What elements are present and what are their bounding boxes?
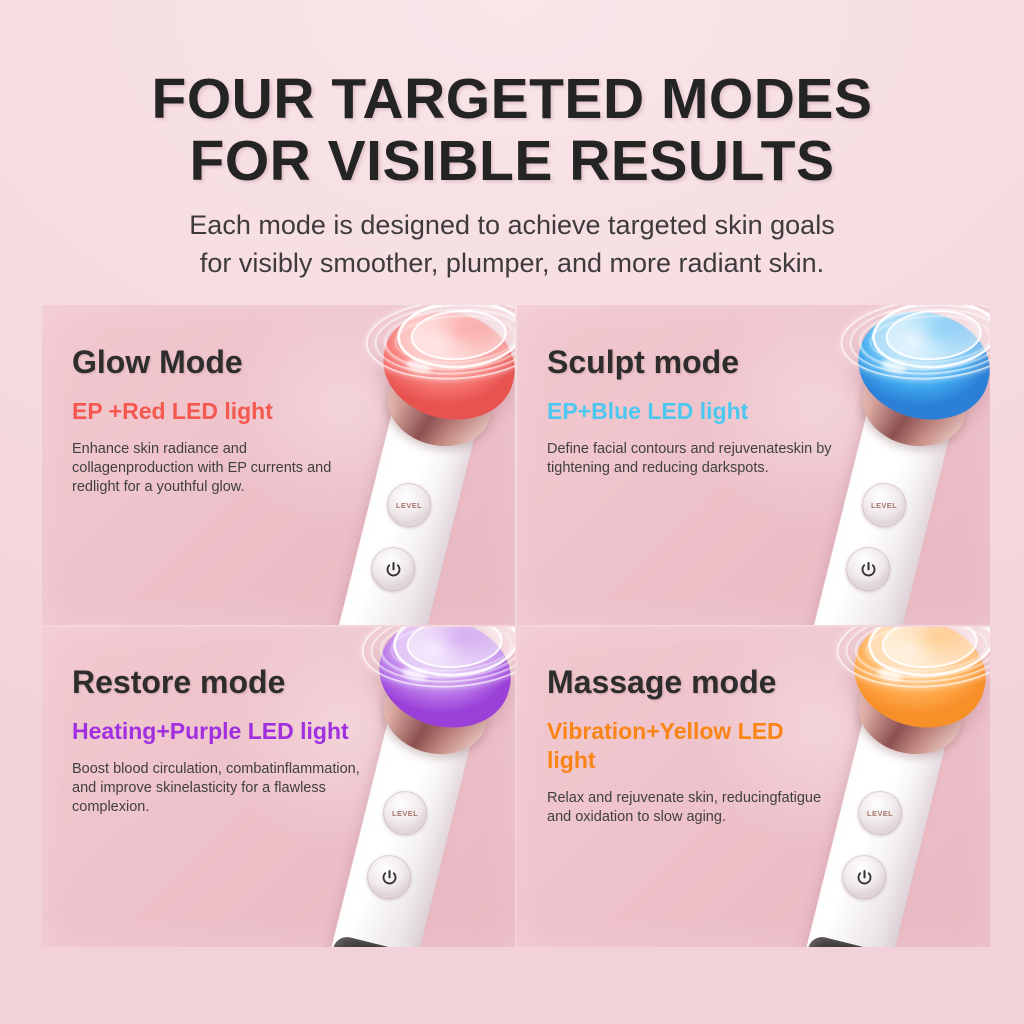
mode-card-text-glow: Glow Mode EP +Red LED light Enhance skin… bbox=[72, 343, 362, 497]
mode-description-glow: Enhance skin radiance and collagenproduc… bbox=[72, 440, 362, 497]
power-icon bbox=[859, 560, 878, 579]
mode-title-glow: Glow Mode bbox=[72, 343, 362, 381]
page-subtitle: Each mode is designed to achieve targete… bbox=[0, 192, 1024, 282]
mode-description-sculpt: Define facial contours and rejuvenateski… bbox=[547, 440, 837, 478]
mode-title-sculpt: Sculpt mode bbox=[547, 343, 837, 381]
power-icon bbox=[380, 868, 399, 887]
mode-card-massage[interactable]: Massage mode Vibration+Yellow LED light … bbox=[517, 627, 990, 947]
page-subtitle-line-1: Each mode is designed to achieve targete… bbox=[189, 210, 834, 240]
page-subtitle-line-2: for visibly smoother, plumper, and more … bbox=[0, 244, 1024, 282]
mode-description-restore: Boost blood circulation, combatinflammat… bbox=[72, 760, 362, 817]
mode-card-text-massage: Massage mode Vibration+Yellow LED light … bbox=[547, 663, 837, 827]
modes-grid: Glow Mode EP +Red LED light Enhance skin… bbox=[42, 305, 990, 947]
power-icon bbox=[384, 560, 403, 579]
infographic-page: FOUR TARGETED MODES FOR VISIBLE RESULTS … bbox=[0, 0, 1024, 1024]
level-button-label: LEVEL bbox=[392, 809, 418, 818]
mode-card-sculpt[interactable]: Sculpt mode EP+Blue LED light Define fac… bbox=[517, 305, 990, 625]
mode-card-text-sculpt: Sculpt mode EP+Blue LED light Define fac… bbox=[547, 343, 837, 478]
header: FOUR TARGETED MODES FOR VISIBLE RESULTS … bbox=[0, 0, 1024, 282]
mode-subtitle-restore: Heating+Purple LED light bbox=[72, 717, 362, 746]
mode-subtitle-massage: Vibration+Yellow LED light bbox=[547, 717, 837, 775]
mode-subtitle-glow: EP +Red LED light bbox=[72, 397, 362, 426]
mode-card-glow[interactable]: Glow Mode EP +Red LED light Enhance skin… bbox=[42, 305, 515, 625]
mode-card-restore[interactable]: Restore mode Heating+Purple LED light Bo… bbox=[42, 627, 515, 947]
mode-description-massage: Relax and rejuvenate skin, reducingfatig… bbox=[547, 789, 837, 827]
page-title-line-1: FOUR TARGETED MODES bbox=[152, 67, 873, 131]
level-button-label: LEVEL bbox=[871, 501, 897, 510]
mode-title-massage: Massage mode bbox=[547, 663, 837, 701]
power-icon bbox=[855, 868, 874, 887]
page-title: FOUR TARGETED MODES FOR VISIBLE RESULTS bbox=[0, 0, 1024, 192]
mode-subtitle-sculpt: EP+Blue LED light bbox=[547, 397, 837, 426]
level-button-label: LEVEL bbox=[867, 809, 893, 818]
mode-title-restore: Restore mode bbox=[72, 663, 362, 701]
mode-card-text-restore: Restore mode Heating+Purple LED light Bo… bbox=[72, 663, 362, 817]
level-button-label: LEVEL bbox=[396, 501, 422, 510]
page-title-line-2: FOR VISIBLE RESULTS bbox=[0, 130, 1024, 192]
